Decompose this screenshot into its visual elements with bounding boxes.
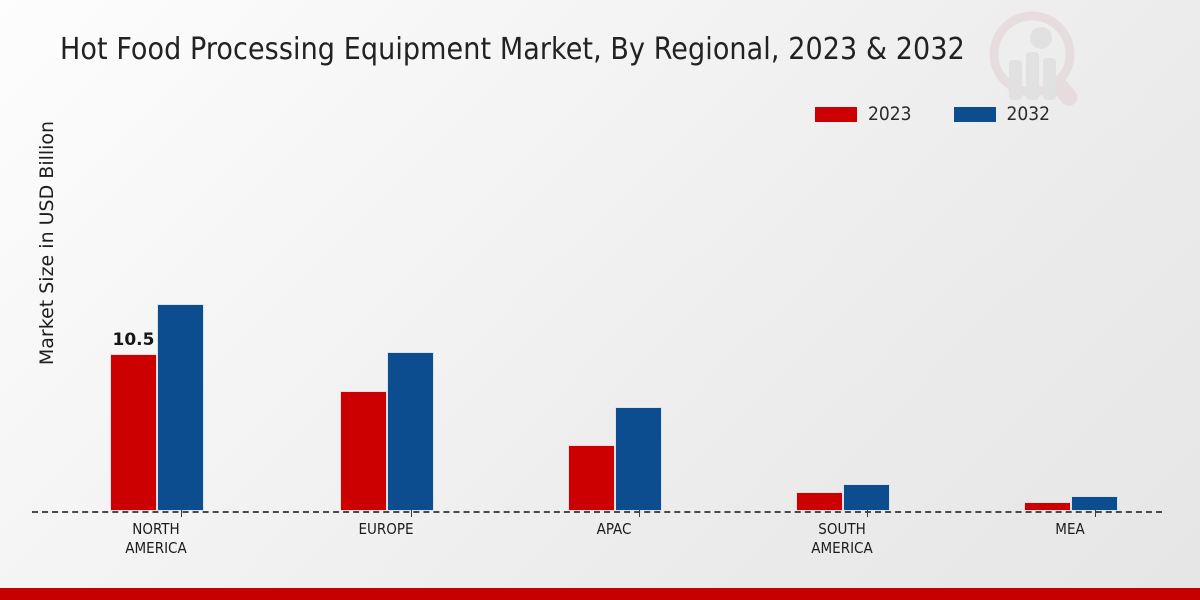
axis-tick-europe — [411, 510, 412, 517]
bar-group-europe — [340, 352, 434, 511]
bar-apac-2023[interactable] — [568, 445, 615, 511]
bar-europe-2032[interactable] — [387, 352, 434, 511]
category-label-line2: AMERICA — [61, 539, 251, 558]
category-label-line1: NORTH — [61, 520, 251, 539]
bar-value-label-north-america-2023: 10.5 — [113, 330, 155, 350]
axis-tick-apac — [639, 510, 640, 517]
bar-mea-2032[interactable] — [1071, 496, 1118, 511]
category-label-line1: MEA — [975, 520, 1165, 539]
category-label-line1: EUROPE — [291, 520, 481, 539]
axis-tick-mea — [1095, 510, 1096, 517]
bar-north-america-2023[interactable]: 10.5 — [110, 354, 157, 511]
category-label-south-america: SOUTH AMERICA — [747, 520, 937, 558]
x-axis-baseline — [32, 511, 1162, 513]
category-label-mea: MEA — [975, 520, 1165, 539]
category-label-europe: EUROPE — [291, 520, 481, 539]
category-label-line2: AMERICA — [747, 539, 937, 558]
category-label-apac: APAC — [519, 520, 709, 539]
chart-container: Hot Food Processing Equipment Market, By… — [0, 0, 1200, 600]
axis-tick-south-america — [867, 510, 868, 517]
bar-europe-2023[interactable] — [340, 391, 387, 511]
footer-accent-bar — [0, 588, 1200, 600]
bar-mea-2023[interactable] — [1024, 502, 1071, 511]
bar-group-apac — [568, 407, 662, 511]
bar-north-america-2032[interactable] — [157, 304, 204, 511]
plot-area: 10.5 NORTH AMERICA EUROPE — [0, 0, 1200, 600]
bar-south-america-2023[interactable] — [796, 492, 843, 511]
bar-south-america-2032[interactable] — [843, 484, 890, 511]
bar-group-mea — [1024, 496, 1118, 511]
category-label-line1: APAC — [519, 520, 709, 539]
bar-group-south-america — [796, 484, 890, 511]
bar-apac-2032[interactable] — [615, 407, 662, 511]
category-label-north-america: NORTH AMERICA — [61, 520, 251, 558]
axis-tick-north-america — [181, 510, 182, 517]
category-label-line1: SOUTH — [747, 520, 937, 539]
bar-group-north-america: 10.5 — [110, 304, 204, 511]
